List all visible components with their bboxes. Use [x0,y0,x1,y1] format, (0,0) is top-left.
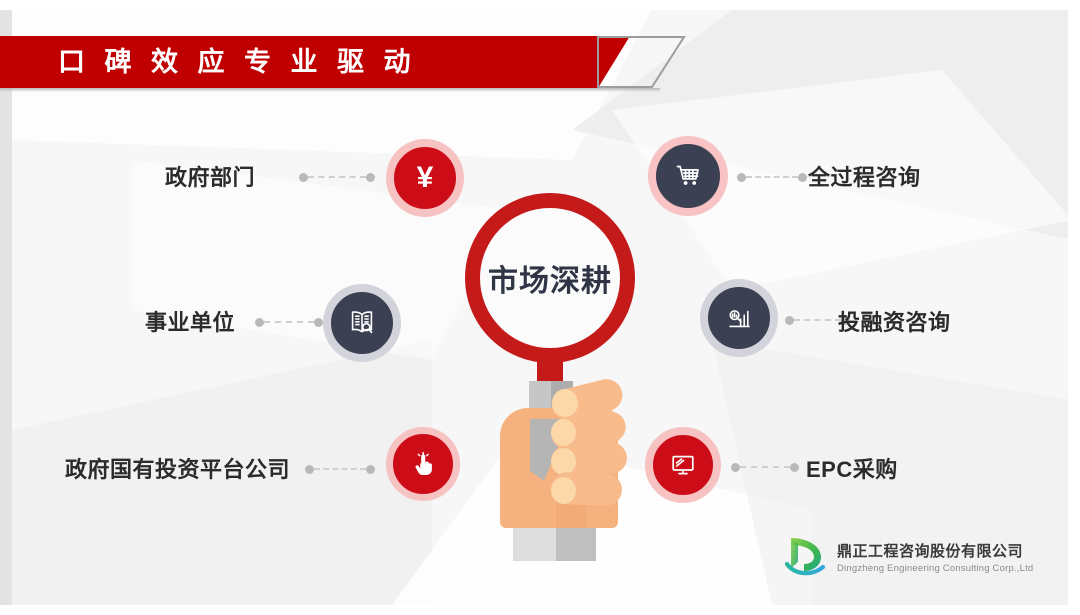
connector-left-1 [299,171,375,183]
connector-dash [314,468,366,470]
connector-dot [305,465,314,474]
node-left-2[interactable] [323,284,401,362]
connector-dot [785,316,794,325]
title-banner: 口 碑 效 应 专 业 驱 动 [0,36,700,88]
node-right-1[interactable] [648,136,728,216]
label-right-3: EPC采购 [806,452,898,484]
connector-left-3 [305,463,375,475]
connector-right-3 [731,461,799,473]
connector-dash [794,319,841,321]
connector-dot [798,173,807,182]
shopping-cart-icon [672,160,704,192]
connector-dot [299,173,308,182]
connector-dot [731,463,740,472]
node-left-1[interactable]: ¥ [386,139,464,217]
node-right-2[interactable] [700,279,778,357]
connector-dot [255,318,264,327]
connector-dash [264,321,314,323]
node-right-3[interactable] [645,427,721,503]
label-left-2: 事业单位 [40,305,235,337]
yen-currency-icon: ¥ [417,163,434,193]
hand-fingertip-2 [551,419,576,446]
connector-right-1 [737,171,807,183]
label-right-2: 投融资咨询 [838,305,951,337]
connector-left-2 [255,316,323,328]
connector-dot [737,173,746,182]
connector-dash [308,176,366,178]
slide-left-edge [0,10,12,605]
bar-chart-search-icon [723,302,755,334]
slide-canvas: 口 碑 效 应 专 业 驱 动 市场深耕 政府部门 ¥ 事业单位 [0,0,1080,615]
monitor-icon [668,450,698,480]
company-logo: 鼎正工程咨询股份有限公司 Dingzheng Engineering Consu… [783,534,1033,580]
click-hand-icon [408,449,438,479]
connector-dash [740,466,790,468]
sleeve-cuff-right [556,528,596,561]
hand-fingertip-1 [552,389,578,417]
dingzheng-leaf-logo-icon [783,534,827,580]
connector-dot [366,465,375,474]
logo-company-cn: 鼎正工程咨询股份有限公司 [837,540,1033,561]
logo-company-en: Dingzheng Engineering Consulting Corp.,L… [837,563,1033,574]
connector-dot [790,463,799,472]
center-headline: 市场深耕 [465,193,635,363]
label-right-1: 全过程咨询 [808,160,921,192]
connector-dash [746,176,798,178]
node-left-3[interactable] [386,427,460,501]
connector-dot [366,173,375,182]
banner-title-text: 口 碑 效 应 专 业 驱 动 [58,36,417,88]
label-left-1: 政府部门 [60,160,255,192]
banner-shadow [0,88,660,92]
logo-text-block: 鼎正工程咨询股份有限公司 Dingzheng Engineering Consu… [837,540,1033,574]
sleeve-cuff-left [513,528,556,561]
label-left-3: 政府国有投资平台公司 [55,452,290,484]
book-search-icon [345,306,379,340]
slide-top-edge [0,0,1080,10]
connector-dot [314,318,323,327]
hand-fingertip-4 [551,477,576,504]
hand-fingertip-3 [551,448,576,475]
banner-outline-shape [596,36,686,88]
